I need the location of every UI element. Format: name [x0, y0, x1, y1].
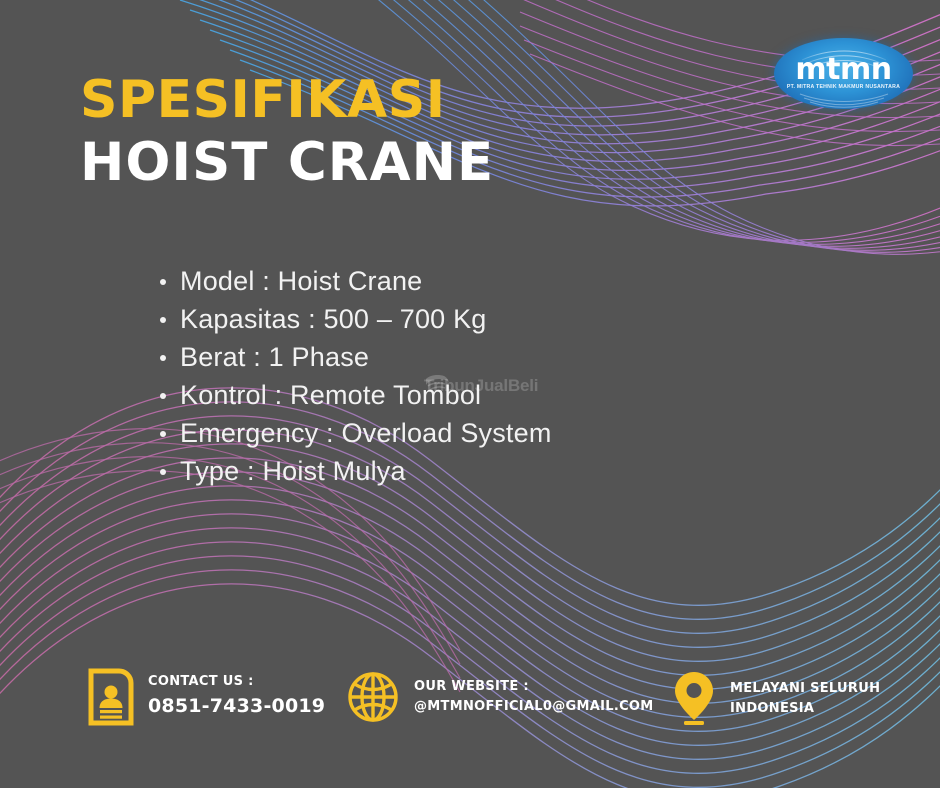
- page-title: HOIST CRANE: [80, 136, 494, 189]
- list-item: Berat : 1 Phase: [157, 338, 552, 376]
- company-logo: mtmn PT. MITRA TEHNIK MAKMUR NUSANTARA: [774, 38, 913, 109]
- contact-card-icon: [88, 668, 134, 726]
- list-item: Type : Hoist Mulya: [157, 452, 552, 490]
- poster-canvas: mtmn PT. MITRA TEHNIK MAKMUR NUSANTARA S…: [0, 0, 940, 788]
- specification-list: Model : Hoist Crane Kapasitas : 500 – 70…: [157, 262, 552, 490]
- contact-text: CONTACT US : 0851-7433-0019: [148, 672, 325, 722]
- website-text: OUR WEBSITE : @MTMNOFFICIAL0@GMAIL.COM: [414, 677, 654, 717]
- list-item: Kapasitas : 500 – 700 Kg: [157, 300, 552, 338]
- page-eyebrow: SPESIFIKASI: [80, 74, 446, 126]
- location-label: MELAYANI SELURUH: [730, 679, 880, 699]
- contact-label: CONTACT US :: [148, 672, 325, 692]
- list-item: Kontrol : Remote Tombol: [157, 376, 552, 414]
- website-value[interactable]: @MTMNOFFICIAL0@GMAIL.COM: [414, 697, 654, 717]
- logo-wordmark: mtmn: [774, 55, 913, 85]
- list-item: Emergency : Overload System: [157, 414, 552, 452]
- list-item: Model : Hoist Crane: [157, 262, 552, 300]
- location-value: INDONESIA: [730, 699, 880, 719]
- globe-icon: [346, 670, 400, 724]
- logo-tagline: PT. MITRA TEHNIK MAKMUR NUSANTARA: [774, 85, 913, 90]
- footer-location-block: MELAYANI SELURUH INDONESIA: [672, 670, 880, 728]
- location-text: MELAYANI SELURUH INDONESIA: [730, 679, 880, 719]
- website-label: OUR WEBSITE :: [414, 677, 654, 697]
- footer-website-block: OUR WEBSITE : @MTMNOFFICIAL0@GMAIL.COM: [346, 670, 654, 724]
- contact-value[interactable]: 0851-7433-0019: [148, 692, 325, 721]
- footer-contact-block: CONTACT US : 0851-7433-0019: [88, 668, 325, 726]
- map-pin-icon: [672, 670, 716, 728]
